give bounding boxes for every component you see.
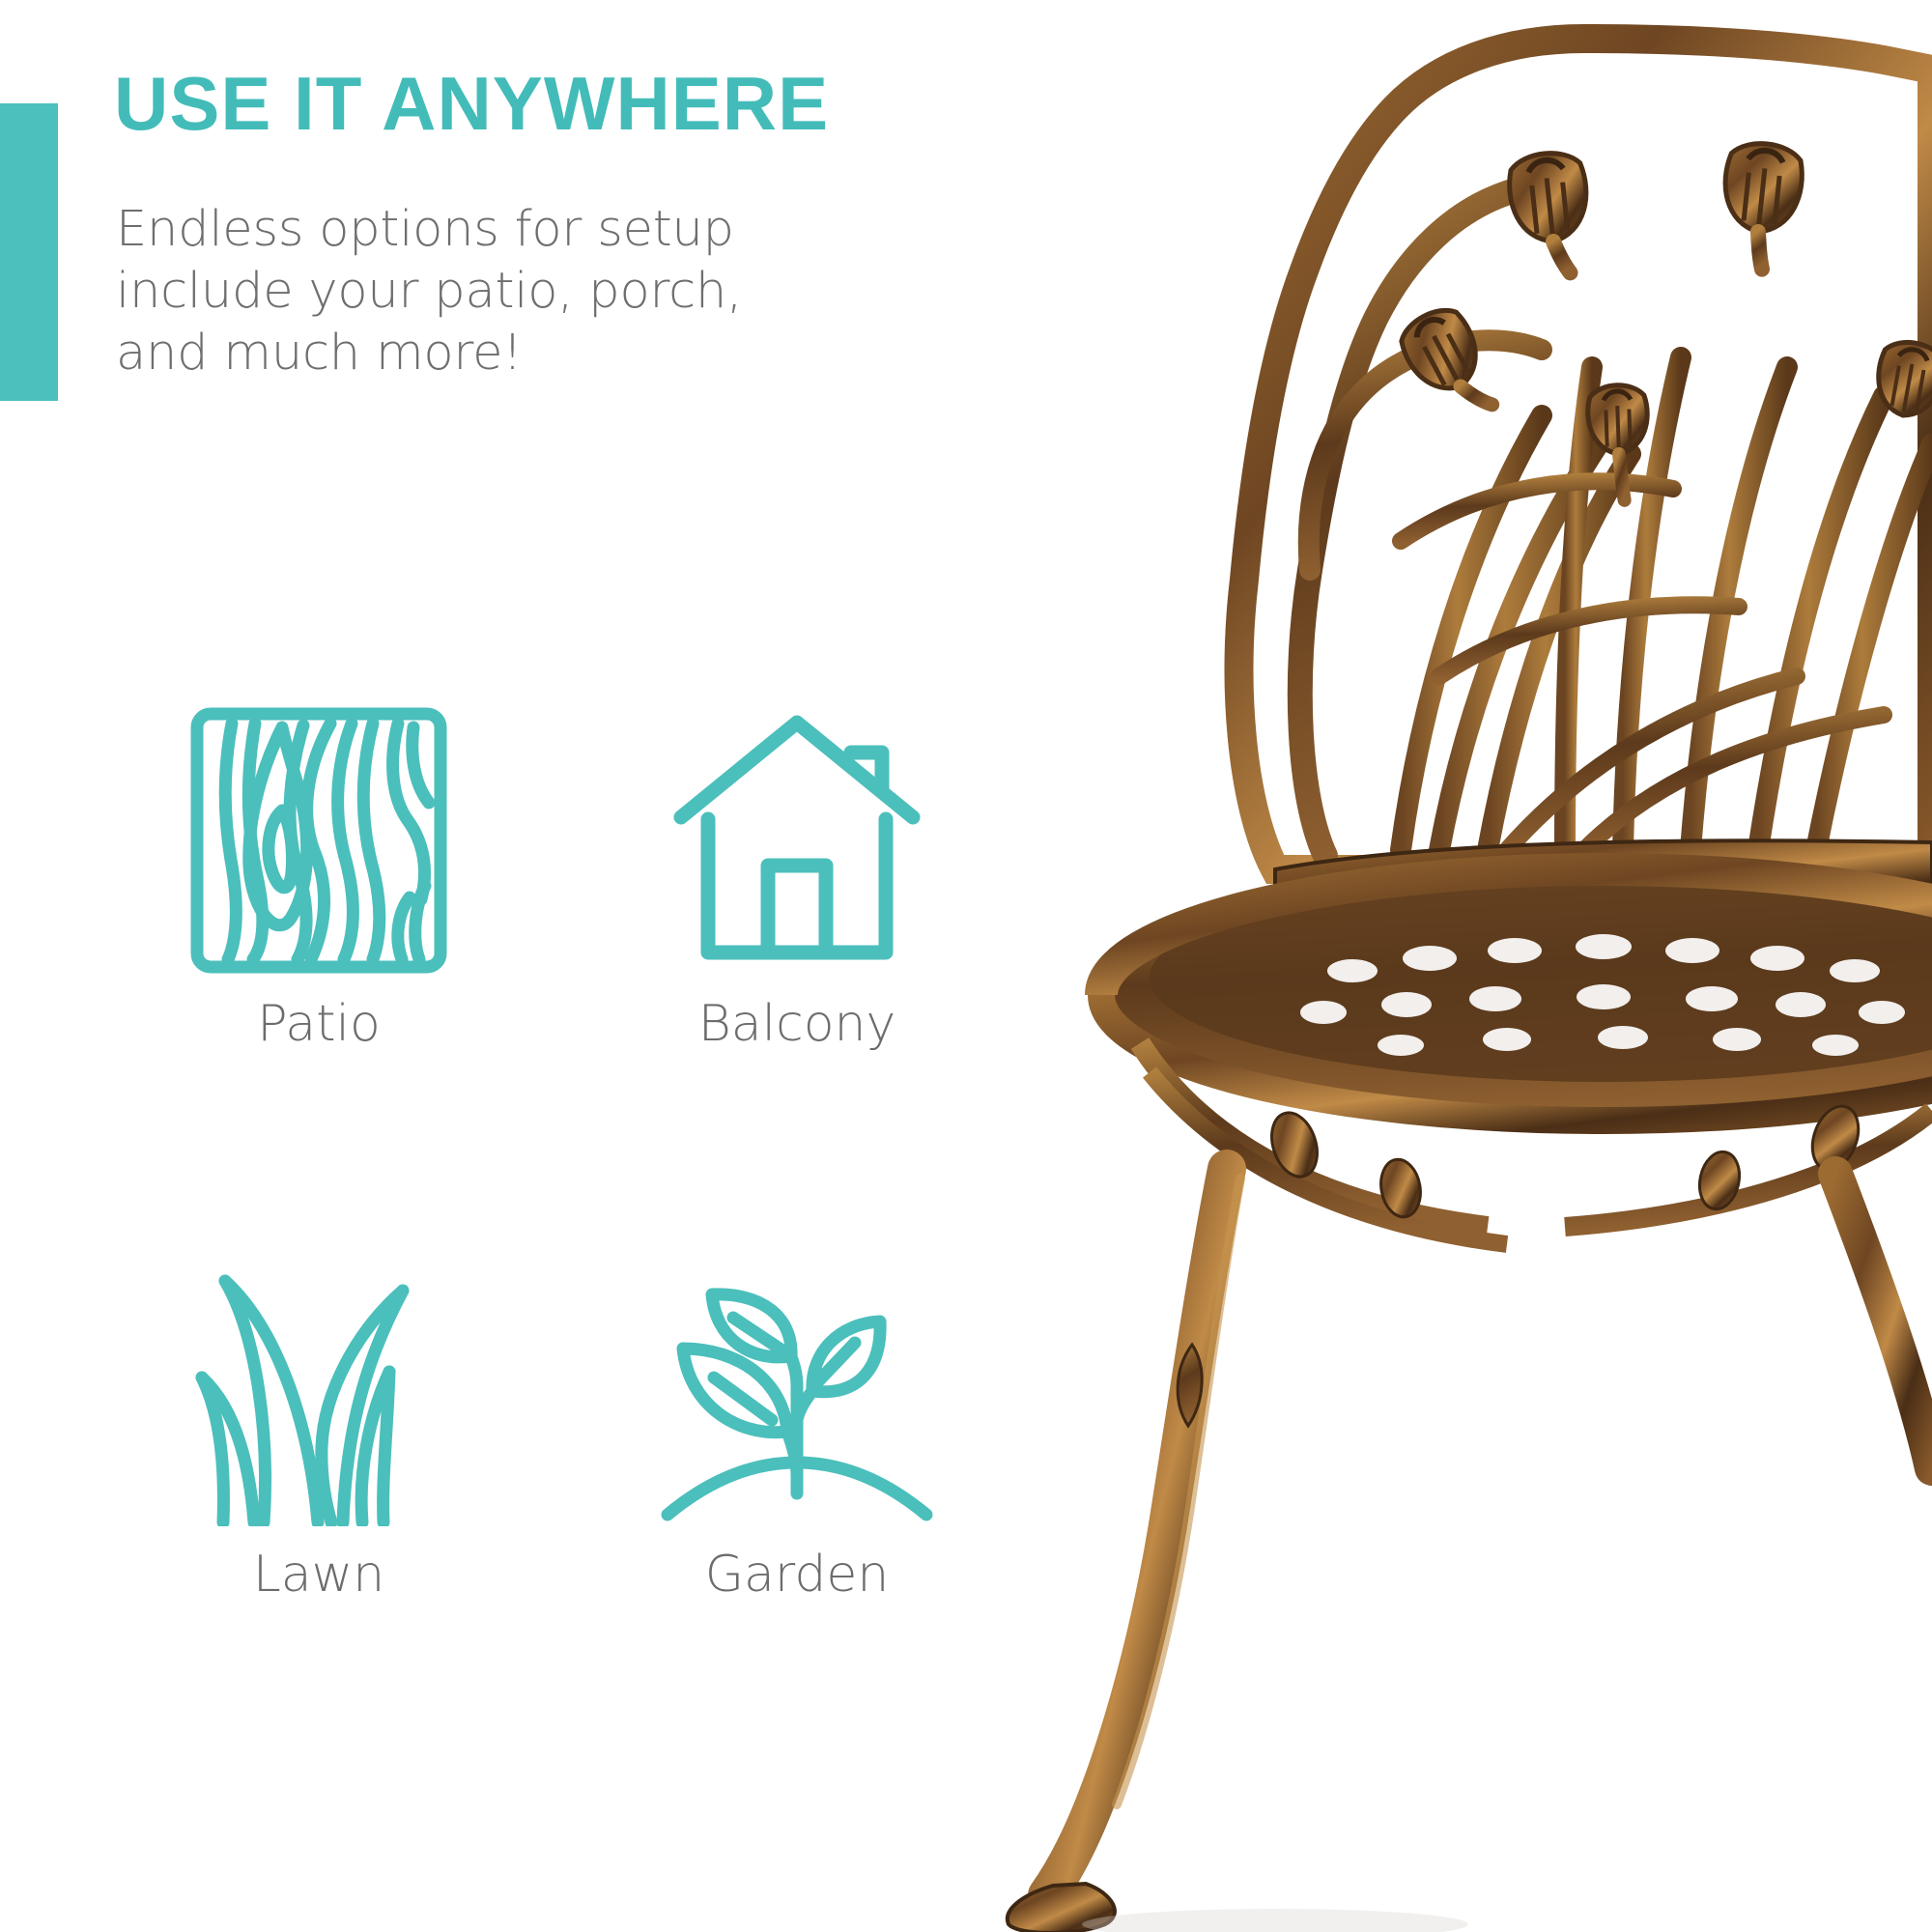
grass-icon	[174, 1256, 464, 1526]
feature-label-garden: Garden	[652, 1546, 942, 1604]
page-title: USE IT ANYWHERE	[114, 66, 829, 141]
feature-item-lawn: Lawn	[174, 1256, 541, 1662]
feature-icon-grid: Patio Balcony	[174, 705, 908, 1671]
chair-illustration	[985, 0, 1932, 1932]
page-subtitle: Endless options for setup include your p…	[116, 199, 742, 384]
feature-item-garden: Garden	[652, 1256, 1019, 1662]
feature-label-patio: Patio	[174, 995, 464, 1053]
patio-chair-photo	[985, 0, 1932, 1932]
house-icon	[652, 705, 942, 976]
wood-grain-icon	[174, 705, 464, 976]
feature-item-patio: Patio	[174, 705, 541, 1111]
infographic-canvas: USE IT ANYWHERE Endless options for setu…	[0, 0, 1932, 1932]
accent-bar	[0, 103, 58, 401]
feature-item-balcony: Balcony	[652, 705, 1019, 1111]
feature-label-balcony: Balcony	[652, 995, 942, 1053]
feature-label-lawn: Lawn	[174, 1546, 464, 1604]
sprout-icon	[652, 1256, 942, 1526]
